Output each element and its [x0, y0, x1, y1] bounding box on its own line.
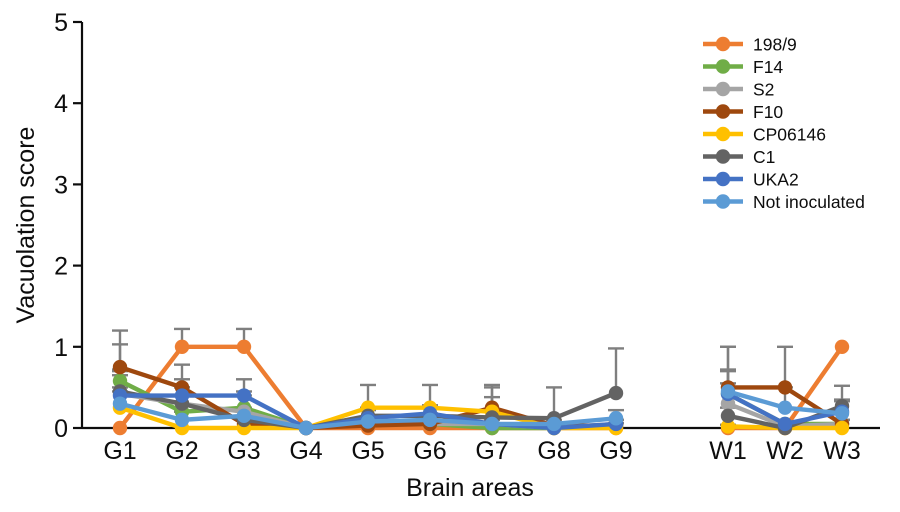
x-tick-label: G5	[351, 437, 384, 465]
data-point	[175, 340, 189, 354]
data-point	[547, 417, 561, 431]
x-tick-label: G3	[227, 437, 260, 465]
legend-label: 198/9	[753, 35, 797, 55]
data-point	[721, 384, 735, 398]
legend-swatch-marker	[716, 82, 730, 96]
legend-item[interactable]: Not inoculated	[703, 192, 865, 212]
chart-canvas: 012345G1G2G3G4G5G6G7G8G9W1W2W3Brain area…	[0, 0, 900, 512]
x-tick-label: G7	[475, 437, 508, 465]
y-tick-label: 2	[54, 253, 68, 281]
legend-label: C1	[753, 147, 775, 167]
data-point	[778, 380, 792, 394]
data-point	[835, 340, 849, 354]
x-tick-label: W1	[709, 437, 747, 465]
legend-item[interactable]: F14	[703, 57, 783, 77]
x-tick-labels: G1G2G3G4G5G6G7G8G9W1W2W3	[103, 437, 860, 465]
legend-swatch-marker	[716, 149, 730, 163]
x-tick-label: G2	[165, 437, 198, 465]
x-tick-label: W3	[823, 437, 861, 465]
data-point	[778, 401, 792, 415]
x-tick-label: G8	[537, 437, 570, 465]
data-point	[361, 414, 375, 428]
legend-swatch-marker	[716, 59, 730, 73]
data-point	[237, 388, 251, 402]
data-point	[835, 406, 849, 420]
legend-label: CP06146	[753, 125, 826, 145]
y-tick-label: 4	[54, 90, 68, 118]
legend-item[interactable]: S2	[703, 80, 774, 100]
data-point	[778, 417, 792, 431]
y-tick-label: 0	[54, 415, 68, 443]
legend-swatch-marker	[716, 194, 730, 208]
legend-item[interactable]: 198/9	[703, 35, 797, 55]
data-point	[175, 388, 189, 402]
legend-label: UKA2	[753, 170, 799, 190]
data-point	[721, 409, 735, 423]
legend-label: S2	[753, 80, 774, 100]
data-point	[299, 421, 313, 435]
data-point	[113, 421, 127, 435]
legend-swatch-marker	[716, 37, 730, 51]
x-tick-label: G6	[413, 437, 446, 465]
legend-label: F10	[753, 102, 783, 122]
data-point	[609, 411, 623, 425]
legend-item[interactable]: UKA2	[703, 170, 799, 190]
legend-swatch-marker	[716, 127, 730, 141]
vacuolation-score-chart: 012345G1G2G3G4G5G6G7G8G9W1W2W3Brain area…	[0, 0, 900, 512]
data-point	[835, 421, 849, 435]
legend-swatch-marker	[716, 172, 730, 186]
data-point	[423, 413, 437, 427]
data-point	[609, 386, 623, 400]
x-axis-title: Brain areas	[406, 474, 534, 502]
data-point	[175, 413, 189, 427]
y-tick-label: 3	[54, 171, 68, 199]
data-point	[485, 417, 499, 431]
y-axis-title: Vacuolation score	[12, 127, 40, 324]
x-tick-label: G4	[289, 437, 322, 465]
data-point	[113, 360, 127, 374]
legend-swatch-marker	[716, 104, 730, 118]
x-tick-label: G1	[103, 437, 136, 465]
legend-item[interactable]: F10	[703, 102, 783, 122]
legend-label: Not inoculated	[753, 192, 865, 212]
y-tick-label: 5	[54, 9, 68, 37]
x-tick-label: W2	[766, 437, 804, 465]
legend-item[interactable]: CP06146	[703, 125, 826, 145]
y-tick-label: 1	[54, 334, 68, 362]
x-tick-label: G9	[599, 437, 632, 465]
data-point	[237, 340, 251, 354]
data-point	[237, 409, 251, 423]
legend-item[interactable]: C1	[703, 147, 775, 167]
data-point	[113, 396, 127, 410]
legend: 198/9F14S2F10CP06146C1UKA2Not inoculated	[703, 35, 865, 213]
legend-label: F14	[753, 57, 783, 77]
